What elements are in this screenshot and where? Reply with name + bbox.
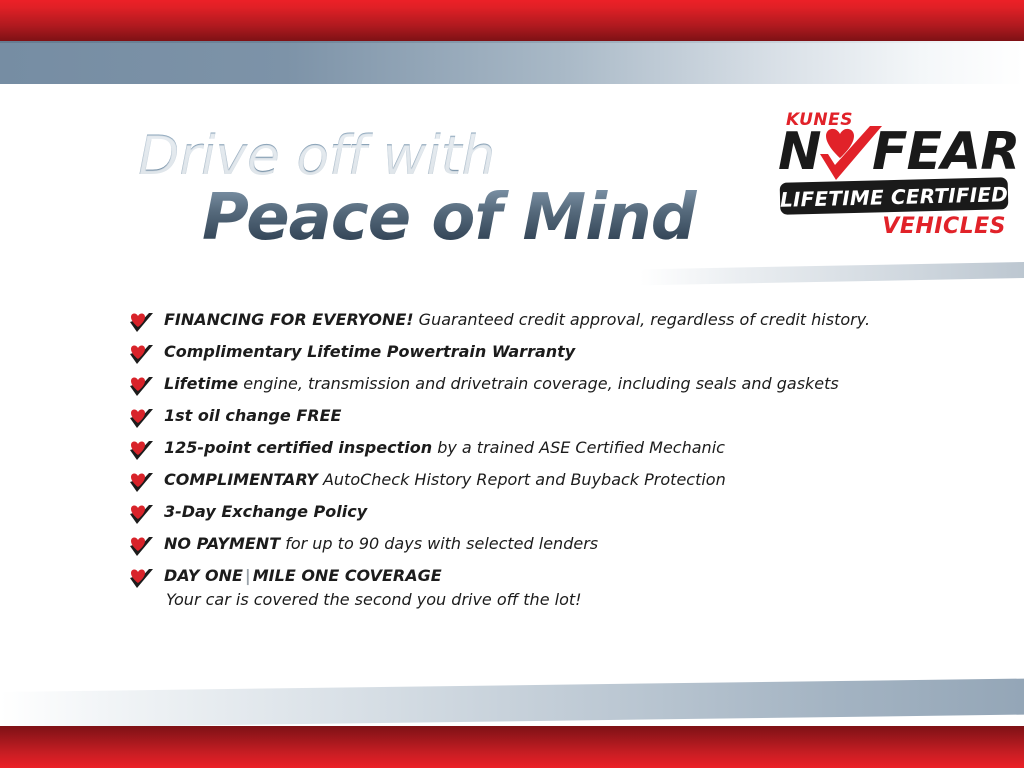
benefit-rest: by a trained ASE Certified Mechanic xyxy=(432,438,725,457)
kunes-no-fear-logo: KUNES N FEAR LIFETIME CERTIFIED VEHICLES xyxy=(776,110,1012,245)
benefit-bold: 125-point certified inspection xyxy=(164,438,432,457)
benefit-bold-2: MILE ONE COVERAGE xyxy=(253,566,442,585)
headline-line-1: Drive off with xyxy=(138,128,738,183)
benefit-text: 3-Day Exchange Policy xyxy=(164,501,928,523)
promo-poster: Drive off with Peace of Mind KUNES N FEA… xyxy=(0,0,1024,768)
benefit-item: 3-Day Exchange Policy xyxy=(128,501,928,533)
heart-check-bullet-icon xyxy=(128,312,154,334)
benefit-bold: 3-Day Exchange Policy xyxy=(164,502,367,521)
heart-check-bullet-icon xyxy=(128,344,154,366)
benefit-item: NO PAYMENT for up to 90 days with select… xyxy=(128,533,928,565)
benefits-list: FINANCING FOR EVERYONE! Guaranteed credi… xyxy=(128,309,928,621)
bottom-red-band xyxy=(0,726,1024,768)
headline-line-2: Peace of Mind xyxy=(202,185,738,252)
logo-word-fear: FEAR xyxy=(872,126,1019,178)
heart-check-bullet-icon xyxy=(128,376,154,398)
benefit-rest: AutoCheck History Report and Buyback Pro… xyxy=(318,470,726,489)
benefit-text: Complimentary Lifetime Powertrain Warran… xyxy=(164,341,928,363)
heart-check-bullet-icon xyxy=(128,568,154,590)
benefit-rest: engine, transmission and drivetrain cove… xyxy=(238,374,839,393)
benefit-rest: Guaranteed credit approval, regardless o… xyxy=(414,310,870,329)
top-gray-band xyxy=(0,41,1024,84)
benefit-bold: FINANCING FOR EVERYONE! xyxy=(164,310,414,329)
benefit-bold: 1st oil change FREE xyxy=(164,406,341,425)
logo-banner-text: LIFETIME CERTIFIED xyxy=(780,182,1009,212)
benefit-bold: COMPLIMENTARY xyxy=(164,470,318,489)
benefit-item: COMPLIMENTARY AutoCheck History Report a… xyxy=(128,469,928,501)
benefit-rest: for up to 90 days with selected lenders xyxy=(280,534,598,553)
benefit-text: Lifetime engine, transmission and drivet… xyxy=(164,373,928,395)
benefit-bold: Lifetime xyxy=(164,374,238,393)
heart-check-bullet-icon xyxy=(128,504,154,526)
benefit-bold: DAY ONE xyxy=(164,566,243,585)
benefit-item: FINANCING FOR EVERYONE! Guaranteed credi… xyxy=(128,309,928,341)
benefit-text: DAY ONE|MILE ONE COVERAGE xyxy=(164,565,928,587)
headline: Drive off with Peace of Mind xyxy=(138,128,738,252)
logo-no-fear-wordmark: N FEAR xyxy=(776,126,1012,182)
heart-check-bullet-icon xyxy=(128,408,154,430)
benefit-text: 125-point certified inspection by a trai… xyxy=(164,437,928,459)
benefit-item: 1st oil change FREE xyxy=(128,405,928,437)
benefit-subtext: Your car is covered the second you drive… xyxy=(166,589,928,611)
logo-vehicles-text: VEHICLES xyxy=(882,214,1006,239)
benefit-text: COMPLIMENTARY AutoCheck History Report a… xyxy=(164,469,928,491)
benefit-text: 1st oil change FREE xyxy=(164,405,928,427)
logo-banner: LIFETIME CERTIFIED xyxy=(780,177,1009,215)
benefit-item: Complimentary Lifetime Powertrain Warran… xyxy=(128,341,928,373)
heart-check-bullet-icon xyxy=(128,472,154,494)
top-red-band xyxy=(0,0,1024,41)
heart-check-bullet-icon xyxy=(128,440,154,462)
headline-divider xyxy=(640,262,1024,285)
benefit-bold: Complimentary Lifetime Powertrain Warran… xyxy=(164,342,575,361)
benefit-text: FINANCING FOR EVERYONE! Guaranteed credi… xyxy=(164,309,928,331)
heart-check-icon xyxy=(812,124,888,186)
benefit-item: Lifetime engine, transmission and drivet… xyxy=(128,373,928,405)
benefit-bold: NO PAYMENT xyxy=(164,534,280,553)
benefit-separator: | xyxy=(243,566,253,585)
heart-check-bullet-icon xyxy=(128,536,154,558)
benefit-item: DAY ONE|MILE ONE COVERAGE Your car is co… xyxy=(128,565,928,621)
benefit-item: 125-point certified inspection by a trai… xyxy=(128,437,928,469)
bottom-gray-band xyxy=(0,679,1024,728)
benefit-text: NO PAYMENT for up to 90 days with select… xyxy=(164,533,928,555)
